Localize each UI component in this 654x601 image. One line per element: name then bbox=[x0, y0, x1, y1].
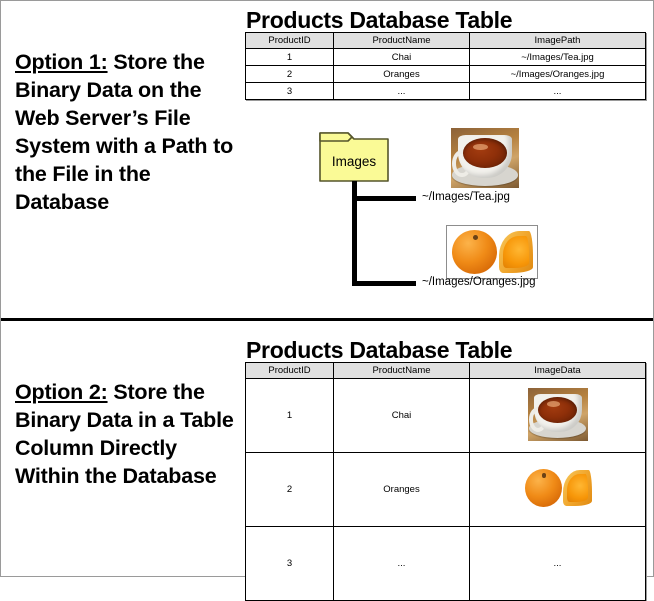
table2-r3-id: 3 bbox=[246, 527, 334, 601]
option2-description: Option 2: Store the Binary Data in a Tab… bbox=[15, 379, 243, 491]
tea-liquid-shape bbox=[538, 397, 578, 424]
table2-r3-image: ... bbox=[470, 527, 646, 601]
file-path-tea: ~/Images/Tea.jpg bbox=[422, 191, 510, 203]
table1-col-imagepath: ImagePath bbox=[470, 33, 646, 49]
orange-ball-shape bbox=[525, 469, 562, 508]
table1-r1-id: 1 bbox=[246, 49, 334, 66]
table1-r2-path: ~/Images/Oranges.jpg bbox=[470, 66, 646, 83]
table-row: 2 Oranges bbox=[246, 453, 646, 527]
wedge-flesh-shape bbox=[503, 236, 529, 268]
table1-r2-name: Oranges bbox=[334, 66, 470, 83]
table2-r1-id: 1 bbox=[246, 379, 334, 453]
file-path-oranges: ~/Images/Oranges.jpg bbox=[422, 276, 535, 288]
tea-photo-art bbox=[528, 388, 588, 441]
orange-ball-shape bbox=[452, 230, 497, 274]
table2-col-imagedata: ImageData bbox=[470, 363, 646, 379]
products-table-option1: ProductID ProductName ImagePath 1 Chai ~… bbox=[245, 32, 646, 100]
table-row: 3 ... ... bbox=[246, 83, 646, 100]
option2-label: Option 2: bbox=[15, 380, 108, 404]
tea-cup-image bbox=[451, 128, 519, 188]
table1-r3-name: ... bbox=[334, 83, 470, 100]
table1-header-row: ProductID ProductName ImagePath bbox=[246, 33, 646, 49]
table-row: 2 Oranges ~/Images/Oranges.jpg bbox=[246, 66, 646, 83]
orange-navel-shape bbox=[542, 473, 546, 477]
tea-photo-art bbox=[451, 128, 519, 188]
orange-fruit-image bbox=[521, 465, 595, 511]
diagram-canvas: Option 1: Store the Binary Data on the W… bbox=[0, 0, 654, 577]
orange-photo-art bbox=[521, 465, 595, 511]
table1-col-productid: ProductID bbox=[246, 33, 334, 49]
panel-divider bbox=[1, 318, 653, 321]
table-row: 1 Chai bbox=[246, 379, 646, 453]
table1-r1-path: ~/Images/Tea.jpg bbox=[470, 49, 646, 66]
orange-wedge-shape bbox=[563, 470, 591, 507]
option1-label: Option 1: bbox=[15, 50, 108, 74]
orange-photo-art bbox=[447, 226, 537, 278]
table2-r3-name: ... bbox=[334, 527, 470, 601]
table2-col-productid: ProductID bbox=[246, 363, 334, 379]
option1-description: Option 1: Store the Binary Data on the W… bbox=[15, 49, 243, 217]
products-table-option2: ProductID ProductName ImageData 1 Chai bbox=[245, 362, 646, 601]
table2-r1-image-cell bbox=[470, 379, 646, 453]
orange-wedge-shape bbox=[499, 231, 533, 273]
orange-navel-shape bbox=[473, 235, 478, 240]
table1-r3-path: ... bbox=[470, 83, 646, 100]
tea-cup-image bbox=[528, 388, 588, 441]
wedge-flesh-shape bbox=[567, 474, 588, 502]
folder-label: Images bbox=[318, 131, 390, 183]
table1-r3-id: 3 bbox=[246, 83, 334, 100]
table2-col-productname: ProductName bbox=[334, 363, 470, 379]
table-row: 1 Chai ~/Images/Tea.jpg bbox=[246, 49, 646, 66]
tree-branch-line-1 bbox=[352, 196, 416, 201]
table2-r2-image-cell bbox=[470, 453, 646, 527]
orange-fruit-image bbox=[446, 225, 538, 279]
table1-col-productname: ProductName bbox=[334, 33, 470, 49]
table2-r2-name: Oranges bbox=[334, 453, 470, 527]
table1-title: Products Database Table bbox=[246, 7, 512, 34]
option1-body: Store the Binary Data on the Web Server’… bbox=[15, 50, 233, 214]
table2-r1-name: Chai bbox=[334, 379, 470, 453]
table1-r2-id: 2 bbox=[246, 66, 334, 83]
table-row: 3 ... ... bbox=[246, 527, 646, 601]
tree-branch-line-2 bbox=[352, 281, 416, 286]
table1-r1-name: Chai bbox=[334, 49, 470, 66]
folder-icon: Images bbox=[318, 131, 390, 183]
table2-title: Products Database Table bbox=[246, 337, 512, 364]
table2-header-row: ProductID ProductName ImageData bbox=[246, 363, 646, 379]
table2-r2-id: 2 bbox=[246, 453, 334, 527]
